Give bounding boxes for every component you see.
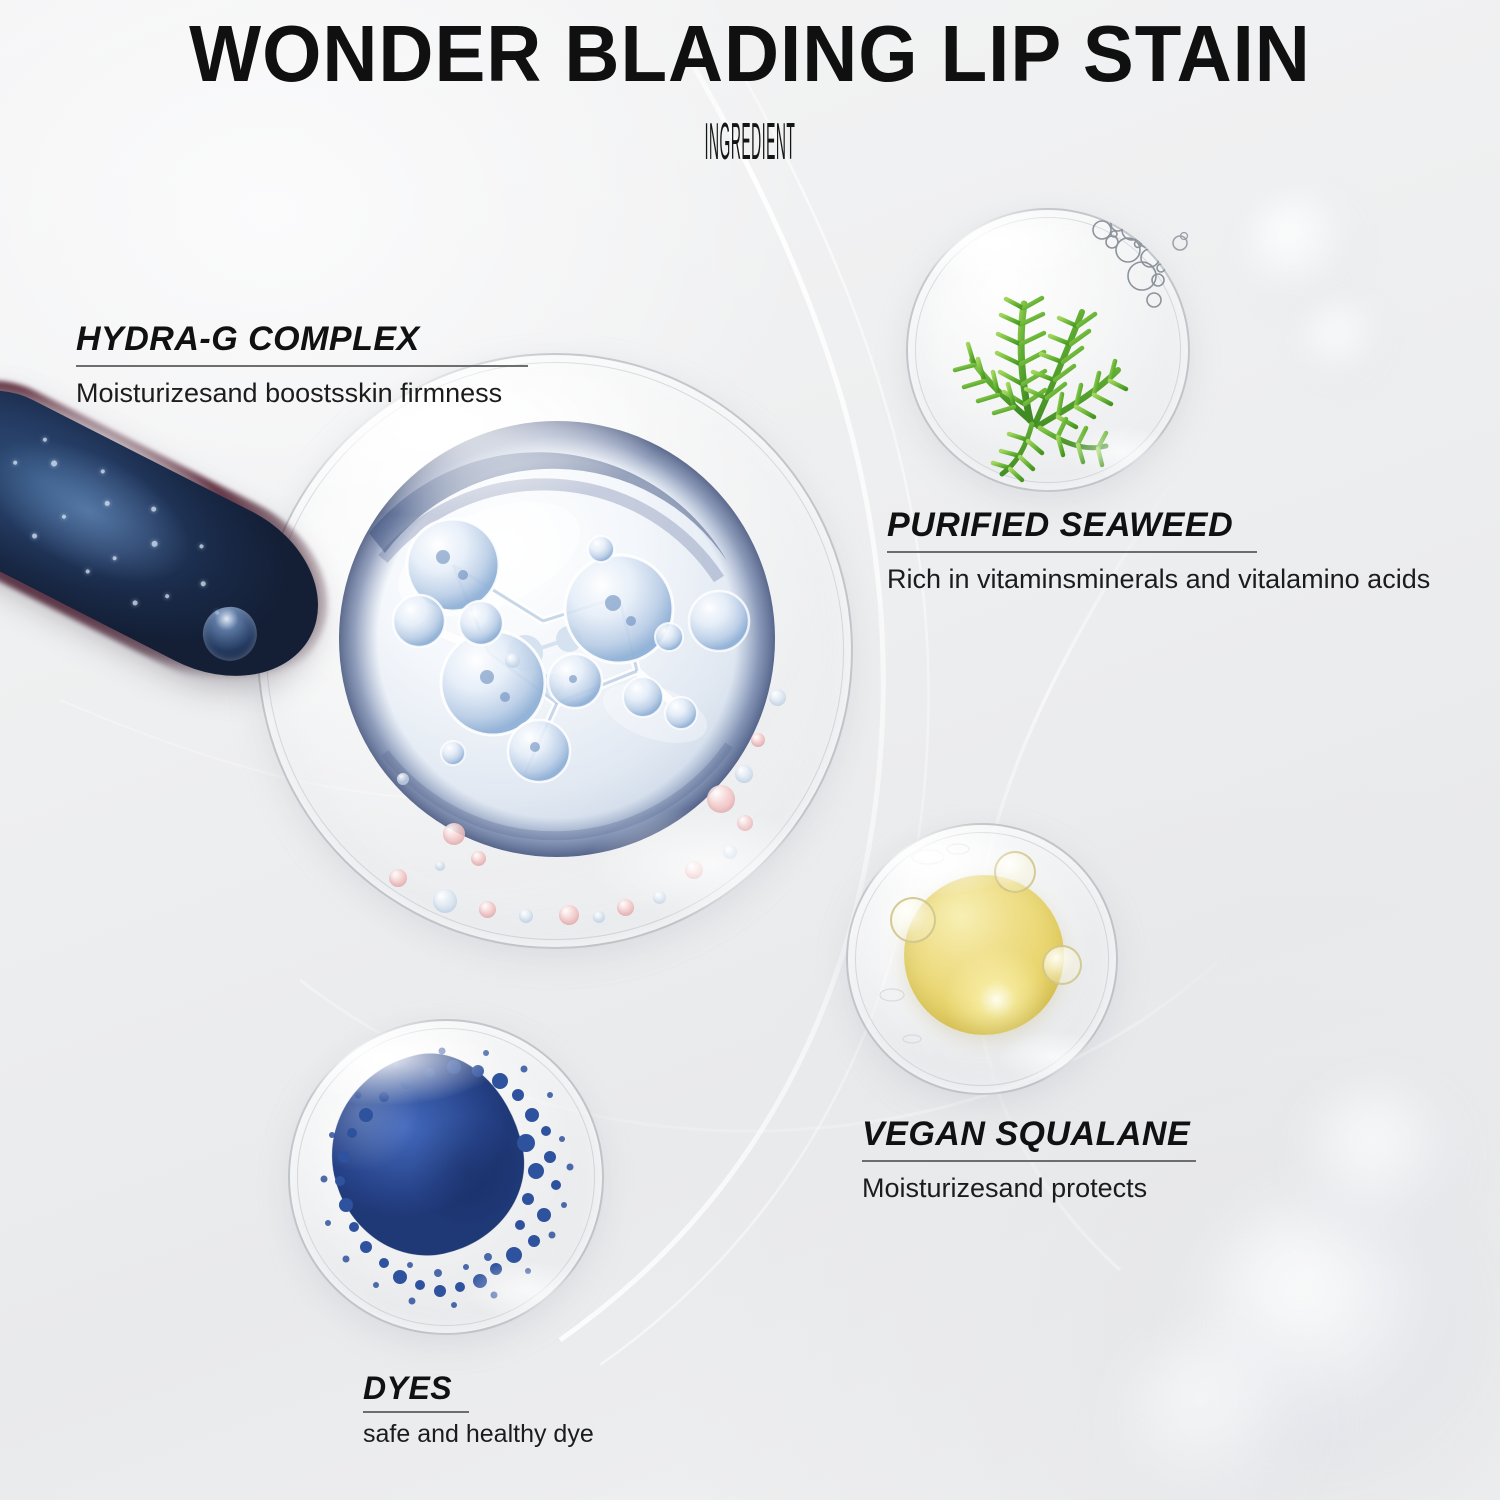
infographic-canvas: WONDER BLADING LIP STAIN INGREDIENT	[0, 0, 1500, 1500]
droplet	[751, 733, 765, 747]
ingredient-description: safe and healthy dye	[363, 1420, 594, 1449]
ingredient-name: HYDRA-G COMPLEX	[76, 322, 528, 358]
label-underline	[76, 365, 528, 367]
ingredient-description: Moisturizesand protects	[862, 1173, 1196, 1204]
background-bokeh-bubble	[1300, 300, 1390, 390]
droplet	[737, 815, 753, 831]
ingredient-description: Rich in vitaminsminerals and vitalamino …	[887, 564, 1430, 595]
droplet	[443, 823, 465, 845]
lip-stain-applicator-wand	[0, 361, 349, 710]
ingredient-dish-purified-seaweed	[906, 208, 1190, 492]
ingredient-name: PURIFIED SEAWEED	[887, 508, 1430, 544]
ingredient-name: VEGAN SQUALANE	[862, 1117, 1196, 1153]
ingredient-dish-vegan-squalane	[846, 823, 1118, 1095]
background-bokeh-bubble	[1245, 195, 1365, 315]
droplet	[769, 689, 786, 706]
droplet	[593, 911, 605, 923]
gel-sphere	[257, 353, 853, 949]
droplet	[723, 845, 737, 859]
droplet	[471, 851, 486, 866]
pigment-grains	[288, 1019, 604, 1335]
droplet	[397, 773, 409, 785]
ingredient-name: DYES	[363, 1372, 594, 1406]
droplet	[479, 901, 496, 918]
ingredient-label-purified-seaweed: PURIFIED SEAWEED Rich in vitaminsmineral…	[887, 508, 1430, 595]
squalane-surface-ripples	[846, 823, 1118, 1095]
droplet	[685, 861, 703, 879]
header: WONDER BLADING LIP STAIN INGREDIENT	[0, 14, 1500, 168]
droplet	[735, 765, 753, 783]
droplet	[505, 653, 520, 668]
droplet	[653, 891, 666, 904]
droplet	[389, 869, 407, 887]
label-underline	[862, 1160, 1196, 1162]
droplet	[519, 909, 533, 923]
background-bokeh-bubble	[1120, 1330, 1320, 1500]
dish-content-dyes	[288, 1019, 604, 1335]
dish-content-squalane	[846, 823, 1118, 1095]
dish-content-seaweed	[906, 208, 1190, 492]
dish-content-hydra	[257, 353, 853, 949]
ingredient-dish-dyes	[288, 1019, 604, 1335]
label-underline	[887, 551, 1257, 553]
page-title: WONDER BLADING LIP STAIN	[35, 14, 1465, 94]
droplet	[559, 905, 579, 925]
page-subtitle: INGREDIENT	[550, 116, 950, 168]
stray-bubble-icon	[1166, 228, 1194, 256]
ingredient-label-vegan-squalane: VEGAN SQUALANE Moisturizesand protects	[862, 1117, 1196, 1204]
ingredient-label-hydra-g-complex: HYDRA-G COMPLEX Moisturizesand boostsski…	[76, 322, 528, 409]
ingredient-dish-hydra-g-complex	[257, 353, 853, 949]
droplet	[707, 785, 735, 813]
droplet	[435, 861, 445, 871]
background-bokeh-bubble	[1300, 1080, 1470, 1250]
rim-bubble-cluster	[906, 208, 1190, 492]
background-bokeh-bubble	[1190, 1195, 1480, 1485]
droplet	[617, 899, 634, 916]
ingredient-description: Moisturizesand boostsskin firmness	[76, 378, 528, 409]
droplet	[433, 889, 457, 913]
label-underline	[363, 1411, 469, 1413]
ingredient-label-dyes: DYES safe and healthy dye	[363, 1372, 594, 1448]
